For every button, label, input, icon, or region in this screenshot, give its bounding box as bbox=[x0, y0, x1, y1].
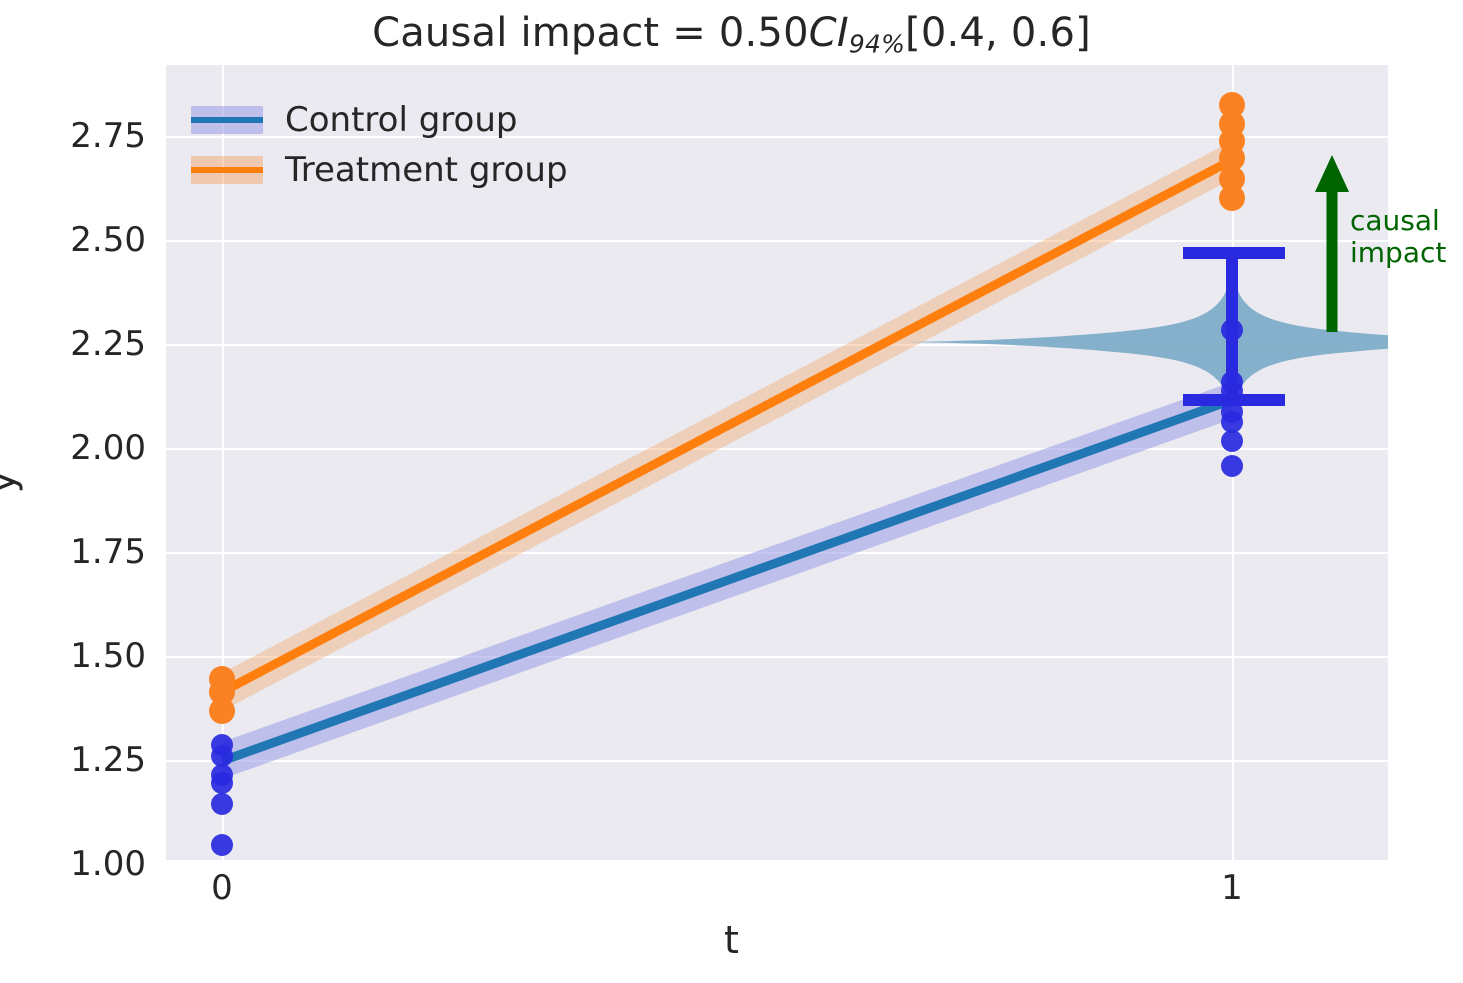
causal-impact-annotation: causal impact bbox=[1350, 205, 1446, 269]
legend-swatch-treatment bbox=[191, 156, 263, 184]
causal-impact-annotation-line1: causal bbox=[1350, 205, 1446, 237]
legend-item-control[interactable]: Control group bbox=[191, 95, 661, 145]
y-tick-label: 1.00 bbox=[6, 844, 146, 884]
chart-title-ci-subscript: 94% bbox=[849, 29, 905, 58]
y-axis-label: y bbox=[0, 471, 23, 494]
treatment-regression-line bbox=[222, 160, 1232, 692]
y-tick-label: 1.25 bbox=[6, 740, 146, 780]
y-tick-label: 2.00 bbox=[6, 428, 146, 468]
y-tick-label: 1.50 bbox=[6, 636, 146, 676]
x-axis-label: t bbox=[0, 918, 1463, 962]
y-tick-label: 2.25 bbox=[6, 324, 146, 364]
legend-label-control: Control group bbox=[285, 100, 517, 140]
legend-item-treatment[interactable]: Treatment group bbox=[191, 145, 661, 195]
chart-title-prefix: Causal impact = 0.50 bbox=[372, 10, 809, 56]
data-point-control bbox=[1221, 430, 1243, 452]
causal-impact-annotation-line2: impact bbox=[1350, 237, 1446, 269]
data-point-control bbox=[1221, 380, 1243, 402]
y-tick-label: 1.75 bbox=[6, 532, 146, 572]
data-point-control bbox=[211, 772, 233, 794]
chart-title: Causal impact = 0.50CI94%[0.4, 0.6] bbox=[0, 10, 1463, 58]
control-regression-line bbox=[222, 400, 1232, 761]
data-point-control bbox=[211, 834, 233, 856]
legend-label-treatment: Treatment group bbox=[285, 150, 568, 190]
data-point-control bbox=[211, 793, 233, 815]
y-tick-label: 2.75 bbox=[6, 116, 146, 156]
plot-area: Control group Treatment group bbox=[166, 65, 1388, 860]
data-point-treatment bbox=[1219, 185, 1245, 211]
chart-title-interval: [0.4, 0.6] bbox=[905, 10, 1091, 56]
legend: Control group Treatment group bbox=[191, 95, 661, 195]
legend-line-treatment bbox=[191, 167, 263, 173]
legend-line-control bbox=[191, 117, 263, 123]
data-point-treatment bbox=[209, 698, 235, 724]
chart-title-ci: CI bbox=[809, 10, 849, 56]
causal-impact-figure: Causal impact = 0.50CI94%[0.4, 0.6] y t … bbox=[0, 0, 1463, 983]
x-tick-label: 0 bbox=[211, 868, 233, 908]
y-tick-label: 2.50 bbox=[6, 220, 146, 260]
legend-swatch-control bbox=[191, 106, 263, 134]
x-tick-label: 1 bbox=[1221, 868, 1243, 908]
data-point-control bbox=[1221, 455, 1243, 477]
data-point-control bbox=[1221, 319, 1243, 341]
